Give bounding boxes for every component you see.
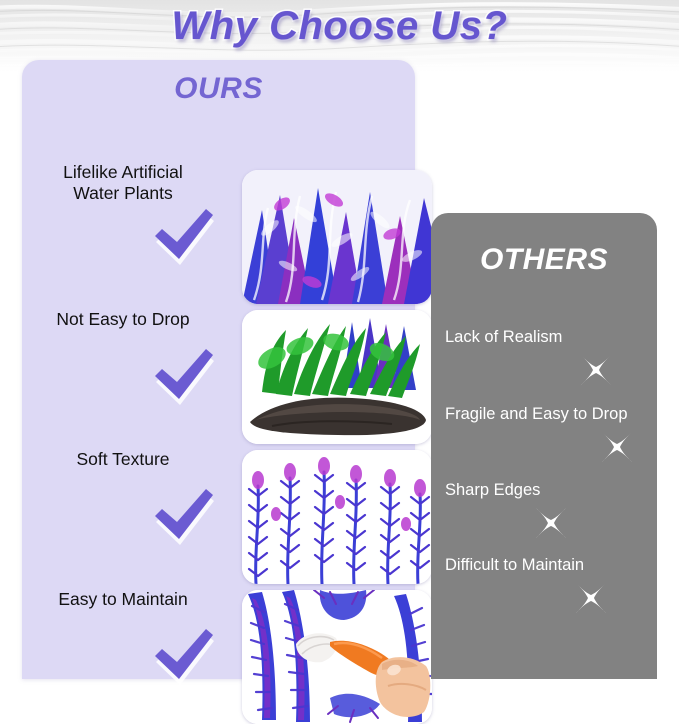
ours-feature-label-line1: Not Easy to Drop: [30, 309, 216, 330]
ours-feature-label: Not Easy to Drop: [30, 309, 216, 330]
others-drawback-label: Fragile and Easy to Drop: [445, 405, 628, 424]
ours-heading: OURS: [22, 72, 415, 106]
page-title: Why Choose Us?: [0, 4, 679, 49]
ours-feature-row: Easy to Maintain: [22, 535, 415, 675]
x-icon: [576, 350, 616, 390]
ours-feature-label: Easy to Maintain: [30, 589, 216, 610]
ours-panel: OURS Lifelike Artificial Water Plants: [22, 60, 415, 679]
ours-feature-label: Lifelike Artificial Water Plants: [30, 162, 216, 204]
ours-feature-row: Soft Texture: [22, 395, 415, 535]
ours-feature-label-line1: Easy to Maintain: [30, 589, 216, 610]
ours-feature-row: Lifelike Artificial Water Plants: [22, 115, 415, 255]
others-heading: OTHERS: [431, 243, 657, 277]
ours-feature-label-line1: Lifelike Artificial: [30, 162, 216, 183]
ours-feature-label-line1: Soft Texture: [30, 449, 216, 470]
x-icon: [571, 578, 611, 618]
others-drawback-label: Sharp Edges: [445, 481, 540, 500]
ours-feature-label-line2: Water Plants: [30, 183, 216, 204]
ours-feature-photo: [242, 590, 432, 724]
ours-feature-row: Not Easy to Drop: [22, 255, 415, 395]
others-drawback-label: Lack of Realism: [445, 328, 562, 347]
others-panel: OTHERS Lack of Realism Fragile and Easy …: [431, 213, 657, 679]
others-drawback-label: Difficult to Maintain: [445, 556, 584, 575]
ours-feature-label: Soft Texture: [30, 449, 216, 470]
x-icon: [597, 427, 637, 467]
x-icon: [531, 503, 571, 543]
check-icon: [153, 628, 215, 686]
